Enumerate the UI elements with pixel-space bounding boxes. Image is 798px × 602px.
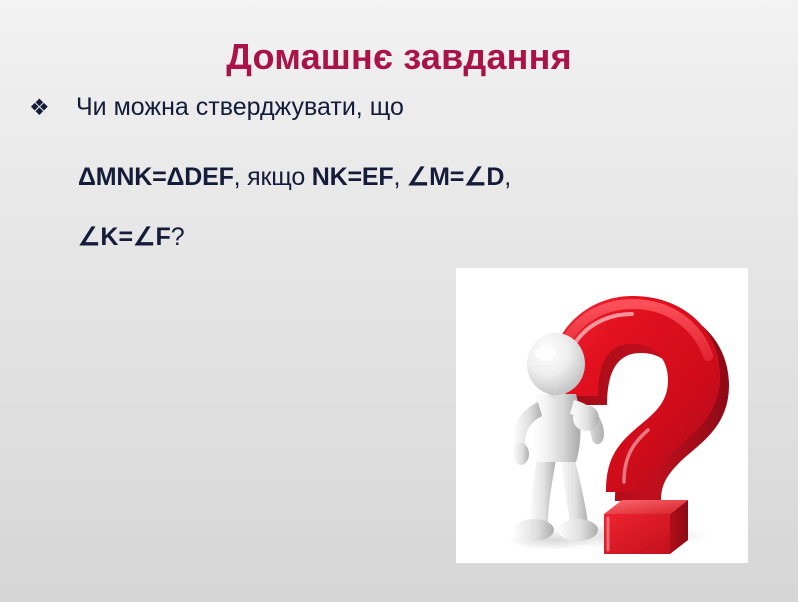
space-1 — [305, 163, 312, 191]
figure-left-foot — [514, 519, 554, 541]
page-title: Домашнє завдання — [0, 36, 798, 78]
figure-left-hand — [513, 443, 529, 465]
question-mark: ? — [171, 223, 185, 251]
slide-canvas: Домашнє завдання ❖ Чи можна стверджувати… — [0, 0, 798, 602]
equation-line-2: ∠K=∠F? — [22, 225, 762, 250]
segment-equality-expression: NK=EF — [312, 163, 394, 191]
bullet-line-1: ❖ Чи можна стверджувати, що — [22, 95, 762, 131]
angle-equality-expression-kf: ∠K=∠F — [78, 223, 171, 251]
figure-right-hand — [573, 405, 599, 431]
comma-2: , — [393, 163, 407, 191]
diamond-bullet-icon: ❖ — [29, 96, 50, 119]
body-text-block: ❖ Чи можна стверджувати, що ΔMNK=ΔDEF, я… — [22, 95, 762, 250]
conditional-word-yakshcho: якщо — [247, 163, 305, 191]
figure-head — [527, 333, 585, 395]
question-mark-image — [456, 268, 748, 563]
comma-3: , — [504, 163, 511, 191]
angle-equality-expression-md: ∠M=∠D — [407, 163, 504, 191]
bullet-line-1-text: Чи можна стверджувати, що — [76, 93, 404, 121]
question-mark-illustration — [456, 268, 748, 563]
question-mark-dot-front — [604, 514, 670, 554]
equation-line-1: ΔMNK=ΔDEF, якщо NK=EF, ∠M=∠D, — [22, 165, 762, 190]
triangle-congruence-expression: ΔMNK=ΔDEF — [78, 163, 234, 191]
figure-head-specular — [535, 345, 555, 361]
comma-1: , — [234, 163, 248, 191]
figure-right-foot — [558, 519, 598, 541]
